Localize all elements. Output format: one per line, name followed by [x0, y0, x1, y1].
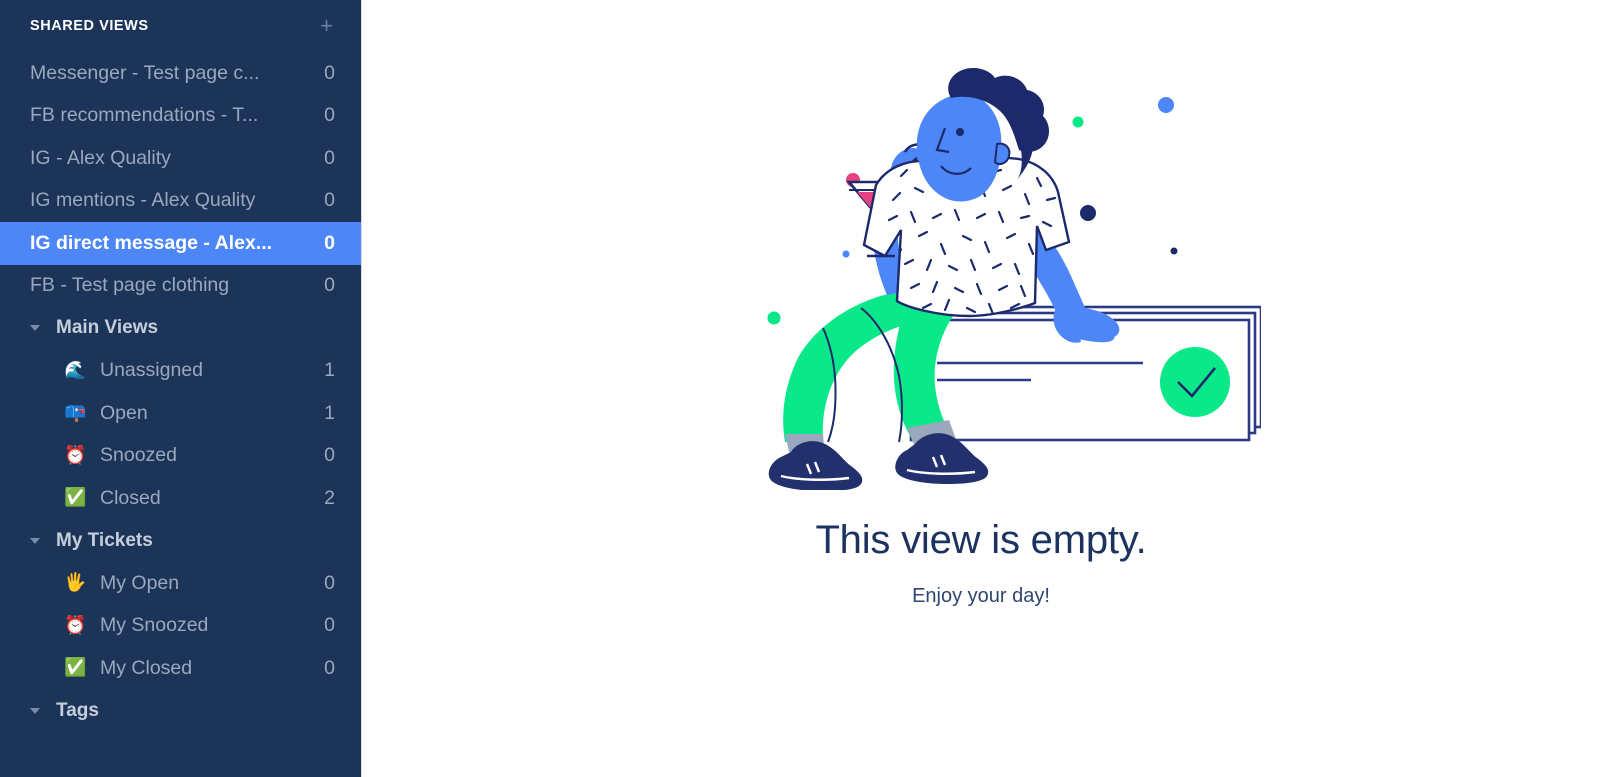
shared-view-count: 0 [324, 62, 335, 85]
sidebar-view-item[interactable]: 🖐️My Open0 [0, 562, 361, 605]
main-content: This view is empty. Enjoy your day! [362, 0, 1600, 777]
empty-state-title: This view is empty. [815, 518, 1146, 563]
sidebar-view-label: Open [100, 402, 314, 425]
sidebar-view-item[interactable]: 🌊Unassigned1 [0, 350, 361, 393]
person-with-cocktail-illustration [701, 60, 1261, 490]
raised-hand-icon: 🖐️ [64, 574, 90, 592]
sidebar-view-label: My Snoozed [100, 614, 314, 637]
shared-views-header: SHARED VIEWS + [0, 0, 361, 52]
shared-view-count: 0 [324, 104, 335, 127]
shared-view-label: IG mentions - Alex Quality [30, 189, 314, 212]
shared-view-count: 0 [324, 147, 335, 170]
sidebar-view-item[interactable]: ⏰My Snoozed0 [0, 605, 361, 648]
plus-icon[interactable]: + [318, 15, 335, 37]
empty-state-subtitle: Enjoy your day! [912, 585, 1050, 608]
shared-view-count: 0 [324, 274, 335, 297]
app-root: SHARED VIEWS + Messenger - Test page c..… [0, 0, 1600, 777]
shared-view-count: 0 [324, 189, 335, 212]
shared-view-label: FB recommendations - T... [30, 104, 314, 127]
sidebar-group-header[interactable]: Tags [0, 690, 361, 733]
shared-view-item[interactable]: IG direct message - Alex...0 [0, 222, 361, 265]
success-check-circle [1160, 347, 1230, 417]
sidebar-view-item[interactable]: ⏰Snoozed0 [0, 435, 361, 478]
sidebar-view-count: 2 [324, 487, 335, 510]
sidebar-view-count: 1 [324, 359, 335, 382]
chevron-down-icon[interactable] [30, 325, 40, 331]
sidebar-view-count: 0 [324, 657, 335, 680]
sidebar-view-label: Closed [100, 487, 314, 510]
sidebar-group-header[interactable]: My Tickets [0, 520, 361, 563]
mailbox-icon: 📪 [64, 404, 90, 422]
alarm-clock-icon: ⏰ [64, 617, 90, 635]
sidebar-group-title: My Tickets [56, 530, 153, 552]
sidebar-view-item[interactable]: ✅My Closed0 [0, 647, 361, 690]
sidebar-view-item[interactable]: 📪Open1 [0, 392, 361, 435]
shared-view-item[interactable]: IG mentions - Alex Quality0 [0, 180, 361, 223]
sidebar-view-label: My Open [100, 572, 314, 595]
right-hand [1054, 306, 1120, 343]
sidebar-view-count: 0 [324, 614, 335, 637]
alarm-clock-icon: ⏰ [64, 447, 90, 465]
shared-view-item[interactable]: Messenger - Test page c...0 [0, 52, 361, 95]
sidebar-view-label: Unassigned [100, 359, 314, 382]
sidebar-view-count: 0 [324, 572, 335, 595]
sidebar-view-label: My Closed [100, 657, 314, 680]
wave-icon: 🌊 [64, 362, 90, 380]
shared-view-item[interactable]: FB - Test page clothing0 [0, 265, 361, 308]
chevron-down-icon[interactable] [30, 708, 40, 714]
shared-views-list: Messenger - Test page c...0FB recommenda… [0, 52, 361, 307]
shared-view-label: FB - Test page clothing [30, 274, 314, 297]
check-box-icon: ✅ [64, 489, 90, 507]
shared-views-title: SHARED VIEWS [30, 18, 149, 34]
sidebar-view-label: Snoozed [100, 444, 314, 467]
sidebar-group-header[interactable]: Main Views [0, 307, 361, 350]
sidebar-groups: Main Views🌊Unassigned1📪Open1⏰Snoozed0✅Cl… [0, 307, 361, 732]
sidebar-view-count: 0 [324, 444, 335, 467]
shared-view-count: 0 [324, 232, 335, 255]
sidebar-view-count: 1 [324, 402, 335, 425]
chevron-down-icon[interactable] [30, 538, 40, 544]
sidebar-view-item[interactable]: ✅Closed2 [0, 477, 361, 520]
shared-view-item[interactable]: IG - Alex Quality0 [0, 137, 361, 180]
check-box-icon: ✅ [64, 659, 90, 677]
shared-view-label: IG direct message - Alex... [30, 232, 314, 255]
sidebar-group-title: Tags [56, 700, 99, 722]
sidebar-group-title: Main Views [56, 317, 158, 339]
sidebar: SHARED VIEWS + Messenger - Test page c..… [0, 0, 362, 777]
shared-view-label: Messenger - Test page c... [30, 62, 314, 85]
shared-view-label: IG - Alex Quality [30, 147, 314, 170]
empty-state: This view is empty. Enjoy your day! [362, 0, 1600, 777]
shared-view-item[interactable]: FB recommendations - T...0 [0, 95, 361, 138]
